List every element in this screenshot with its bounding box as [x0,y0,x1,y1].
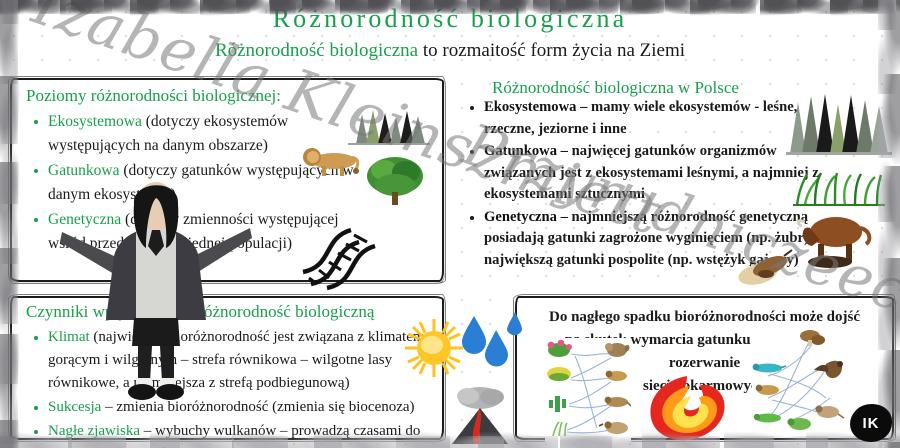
bullet-term: Ekosystemowa [484,99,576,115]
sun-illustration [404,318,464,378]
water-droplets-illustration [460,312,522,368]
dna-helix-illustration [297,208,377,290]
volcano-illustration [450,386,514,446]
panel-levels-heading: Poziomy różnorodności biologicznej: [26,86,281,106]
panel-poland-content: Ekosystemowa – mamy wiele ekosystemów - … [462,97,824,272]
author-badge: IK [850,404,892,442]
pine-forest-illustration-right [786,92,892,158]
fire-illustration [645,374,731,444]
page-subtitle: Różnorodność biologiczna to rozmaitość f… [0,40,900,62]
list-item: Nagłe zjawiska – wybuchy wulkanów – prow… [26,420,436,448]
bullet-term: Sukcesja [48,399,101,415]
pine-forest-illustration [348,108,430,146]
food-web-desert-illustration [545,338,631,442]
subtitle-highlight: Różnorodność biologiczna [215,40,418,61]
subtitle-rest: to rozmaitość form życia na Ziemi [418,40,685,61]
list-item: Ekosystemowa – mamy wiele ekosystemów - … [462,97,824,140]
bullet-term: Gatunkowa [484,143,557,159]
moth-illustration [736,248,798,290]
page-title: Różnorodność biologiczna [0,4,900,34]
bison-illustration [794,208,874,270]
bullet-term: Nagłe zjawiska [48,423,140,439]
bullet-text: – zmienia bioróżnorodność (zmienia się b… [101,399,414,415]
bullet-term: Genetyczna [484,209,557,225]
lion-illustration [300,144,362,178]
slide-canvas: Różnorodność biologiczna Różnorodność bi… [0,0,900,448]
bullet-term: Ekosystemowa [48,113,142,130]
food-web-forest-illustration [752,324,848,436]
leafy-tree-illustration [364,152,426,206]
panel-poland-list: Ekosystemowa – mamy wiele ekosystemów - … [462,97,824,271]
grass-tuft-illustration [793,172,885,206]
panel-poland-heading: Różnorodność biologiczna w Polsce [492,78,739,98]
author-badge-label: IK [863,415,880,432]
girl-silhouette-illustration [56,170,256,400]
note-line-1: Do nagłego spadku bioróżnorodności może … [549,309,860,325]
list-item: Gatunkowa – najwięcej gatunków organizmó… [462,141,824,206]
